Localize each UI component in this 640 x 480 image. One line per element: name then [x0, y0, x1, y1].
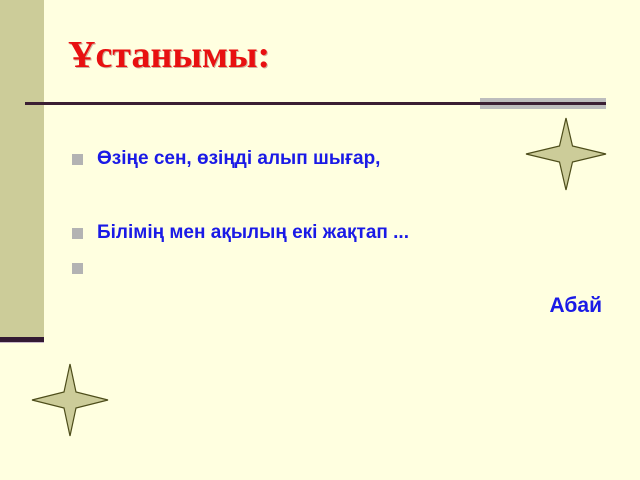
list-item: Білімің мен ақылың екі жақтап ... [72, 220, 592, 250]
attribution-text: Абай [300, 293, 602, 319]
header-divider-line [25, 102, 606, 105]
slide-title: Ұстанымы: [68, 33, 588, 77]
list-item-label [97, 255, 592, 261]
list-item-label: Өзіңе сен, өзіңді алып шығар, [97, 146, 592, 172]
left-band-bottom-rule [0, 337, 44, 343]
list-item-label: Білімің мен ақылың екі жақтап ... [97, 220, 592, 246]
bullet-list: Өзіңе сен, өзіңді алып шығар, Білімің ме… [72, 146, 592, 285]
left-olive-band [0, 0, 44, 339]
four-pointed-star-icon-left [30, 362, 110, 438]
four-pointed-star-icon-right [524, 116, 608, 192]
list-item [72, 255, 592, 285]
list-item: Өзіңе сен, өзіңді алып шығар, [72, 146, 592, 176]
square-bullet-icon [72, 154, 83, 165]
slide-canvas: Ұстанымы: Өзіңе сен, өзіңді алып шығар, … [0, 0, 640, 480]
square-bullet-icon [72, 263, 83, 274]
square-bullet-icon [72, 228, 83, 239]
